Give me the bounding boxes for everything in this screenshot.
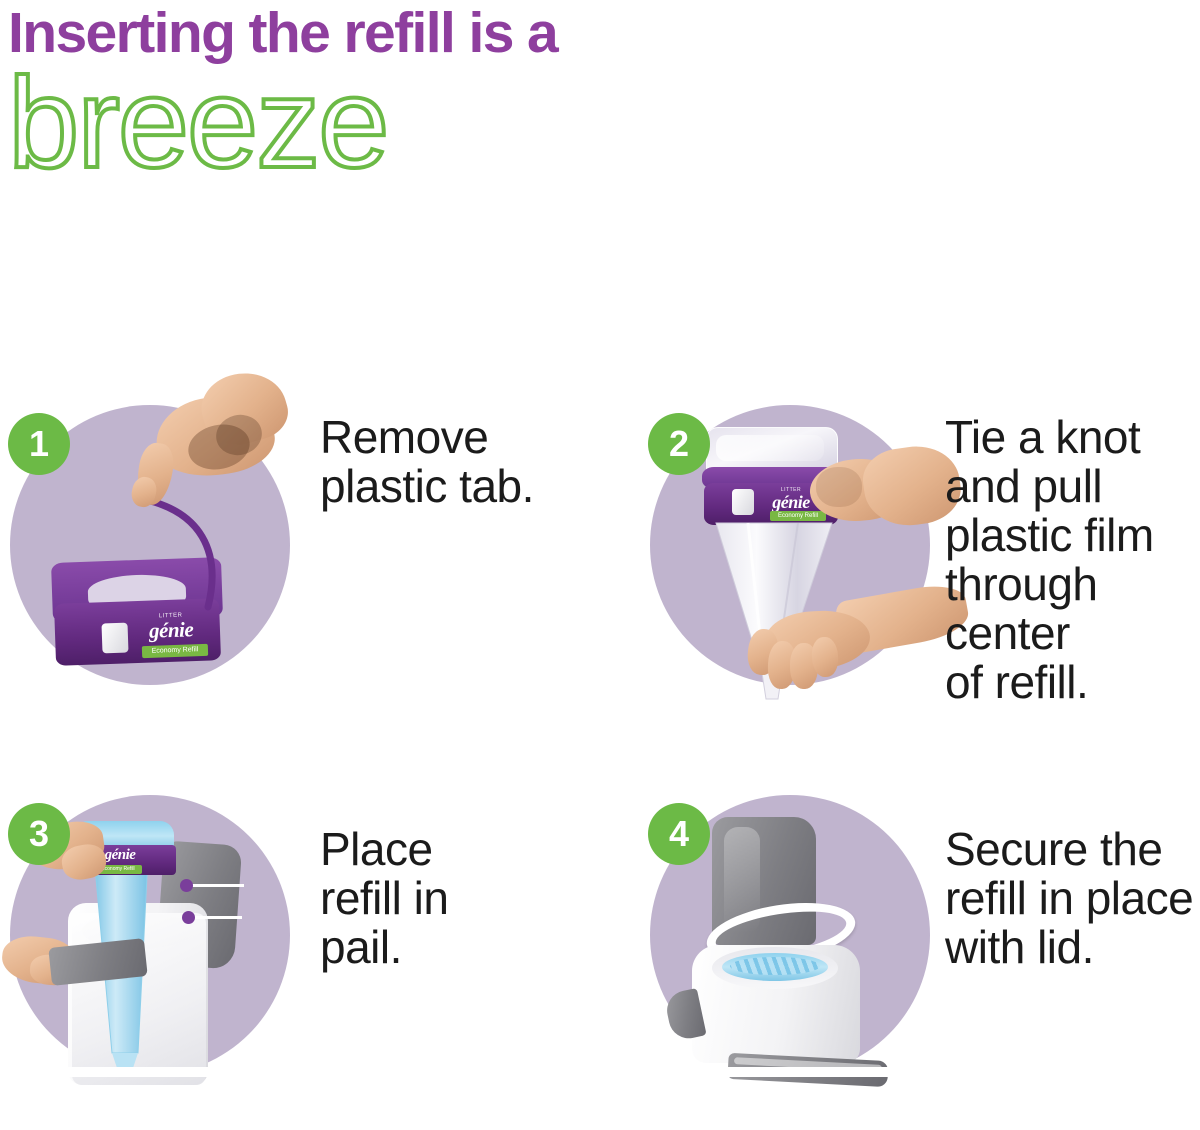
refill-brand-label: LITTER génie (128, 612, 215, 643)
callout-line-2 (194, 916, 242, 919)
callout-line-1 (192, 884, 244, 887)
step-4-bottom-fade (650, 1067, 930, 1077)
headline-line-2: breeze (8, 60, 1108, 188)
step-4: 4 Secure the refill in place with lid. (640, 785, 1200, 1130)
step-3: génie Economy Refill (0, 785, 600, 1130)
steps-container: LITTER génie Economy Refill (0, 395, 1200, 1085)
hand-gripping-film (742, 585, 952, 695)
step-1-caption: Remove plastic tab. (320, 413, 534, 511)
page-headline: Inserting the refill is a breeze (8, 0, 1108, 188)
step-3-number-badge: 3 (8, 803, 70, 865)
step-4-number-badge: 4 (648, 803, 710, 865)
step-3-bottom-fade (10, 1067, 290, 1077)
hand-pulling-tab (128, 397, 278, 527)
callout-dot-1 (180, 879, 193, 892)
refill-brand-name: génie (149, 617, 194, 643)
refill-label-dispenser-icon (101, 623, 128, 654)
step-2-caption: Tie a knot and pull plastic film through… (945, 413, 1154, 707)
step-1-number-badge: 1 (8, 413, 70, 475)
step-2-number-badge: 2 (648, 413, 710, 475)
refill-label-dispenser-icon (732, 489, 754, 515)
step-2: LITTER génie Economy Refill (640, 395, 1200, 740)
step-4-caption: Secure the refill in place with lid. (945, 825, 1193, 972)
plastic-film-top-highlight (716, 435, 824, 461)
refill-brand-name: génie (772, 492, 810, 512)
blue-film-texture (730, 957, 820, 975)
step-3-caption: Place refill in pail. (320, 825, 448, 972)
callout-dot-2 (182, 911, 195, 924)
refill-economy-badge: Economy Refill (142, 644, 208, 658)
hand-holding-cartridge (810, 447, 940, 547)
refill-economy-badge-text: Economy Refill (152, 646, 199, 655)
step-1: LITTER génie Economy Refill (0, 395, 600, 740)
